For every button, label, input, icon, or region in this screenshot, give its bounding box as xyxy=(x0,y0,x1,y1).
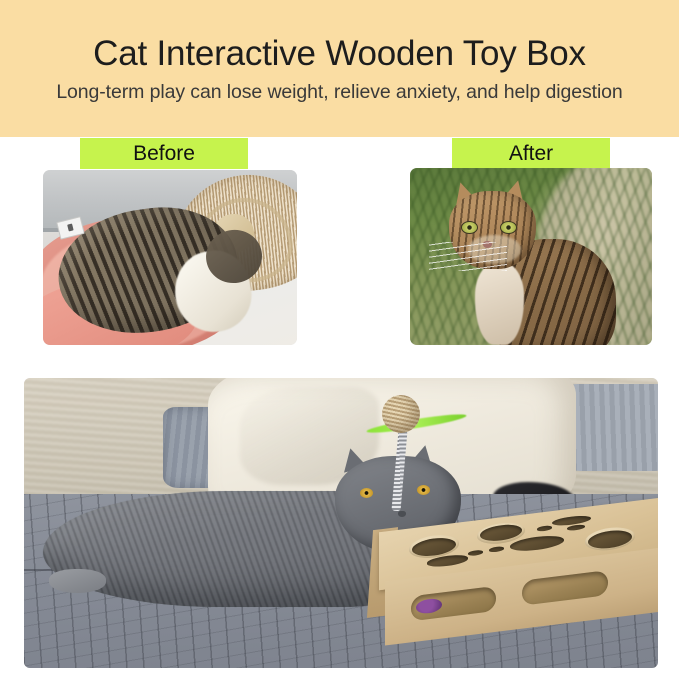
toy-box-slot-3 xyxy=(537,525,552,531)
cat-right-eye xyxy=(500,221,517,234)
cat-chest-fur xyxy=(475,262,523,345)
after-photo xyxy=(410,168,652,345)
page-subtitle: Long-term play can lose weight, relieve … xyxy=(56,80,622,104)
cat-whiskers xyxy=(429,242,506,270)
before-photo xyxy=(43,170,297,345)
toy-box-slot-1 xyxy=(468,550,483,556)
page-title: Cat Interactive Wooden Toy Box xyxy=(93,33,586,74)
toy-box-side-opening-2 xyxy=(522,570,608,606)
header-banner: Cat Interactive Wooden Toy Box Long-term… xyxy=(0,0,679,137)
before-label-text: Before xyxy=(133,138,195,169)
toy-box-slot-4 xyxy=(567,525,585,532)
before-label-badge: Before xyxy=(80,138,248,169)
cat-left-eye xyxy=(461,221,478,234)
cat-front-paw xyxy=(49,569,106,592)
main-product-photo xyxy=(24,378,658,668)
toy-box-slot-2 xyxy=(489,546,504,552)
after-label-badge: After xyxy=(452,138,610,169)
after-label-text: After xyxy=(509,138,553,169)
